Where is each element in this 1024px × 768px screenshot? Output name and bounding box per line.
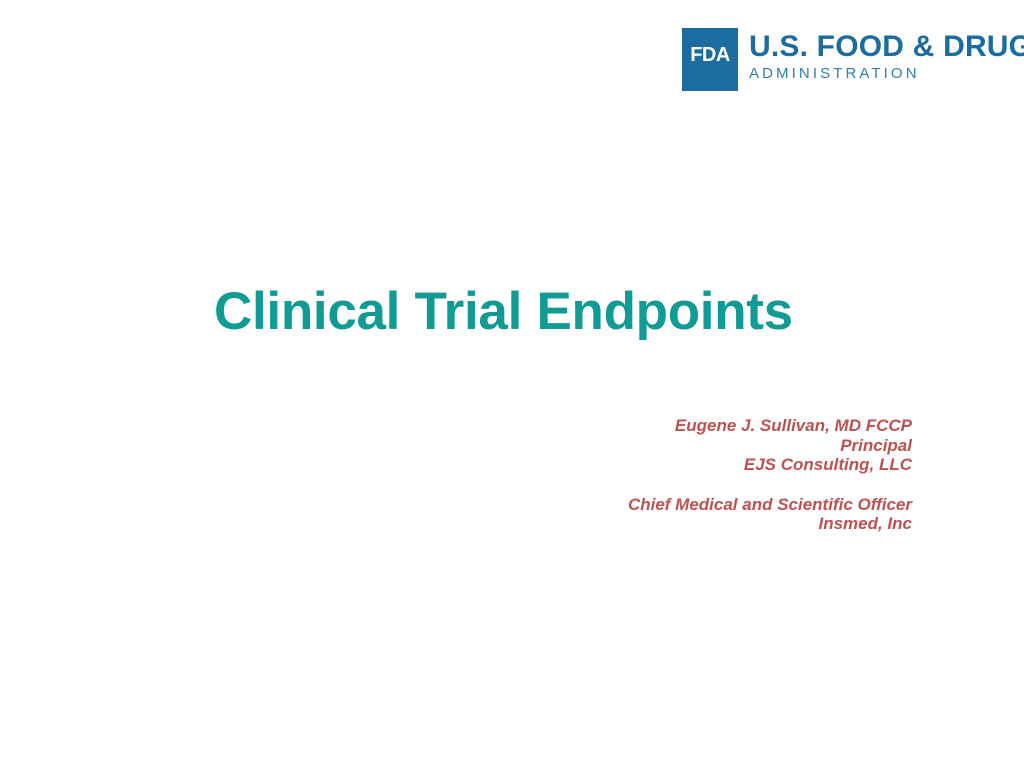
byline-line: Eugene J. Sullivan, MD FCCP bbox=[392, 416, 912, 436]
fda-logo-mark-label: FDA bbox=[682, 45, 738, 65]
byline-line: Chief Medical and Scientific Officer bbox=[392, 495, 912, 515]
byline-group-affiliation: Chief Medical and Scientific Officer Ins… bbox=[392, 495, 912, 534]
fda-wordmark-line-secondary: ADMINISTRATION bbox=[749, 64, 1024, 84]
byline-line: EJS Consulting, LLC bbox=[392, 455, 912, 475]
fda-wordmark-line-primary: U.S. FOOD & DRUG bbox=[749, 30, 1024, 64]
fda-logo-mark: FDA bbox=[682, 28, 738, 91]
byline-group-presenter: Eugene J. Sullivan, MD FCCP Principal EJ… bbox=[392, 416, 912, 475]
fda-logo: FDA U.S. FOOD & DRUG ADMINISTRATION bbox=[682, 28, 1024, 91]
presentation-slide: FDA U.S. FOOD & DRUG ADMINISTRATION Clin… bbox=[0, 0, 1024, 768]
slide-byline: Eugene J. Sullivan, MD FCCP Principal EJ… bbox=[392, 416, 912, 534]
byline-line: Insmed, Inc bbox=[392, 514, 912, 534]
fda-wordmark: U.S. FOOD & DRUG ADMINISTRATION bbox=[749, 28, 1024, 84]
slide-title: Clinical Trial Endpoints bbox=[214, 282, 854, 342]
byline-line: Principal bbox=[392, 436, 912, 456]
